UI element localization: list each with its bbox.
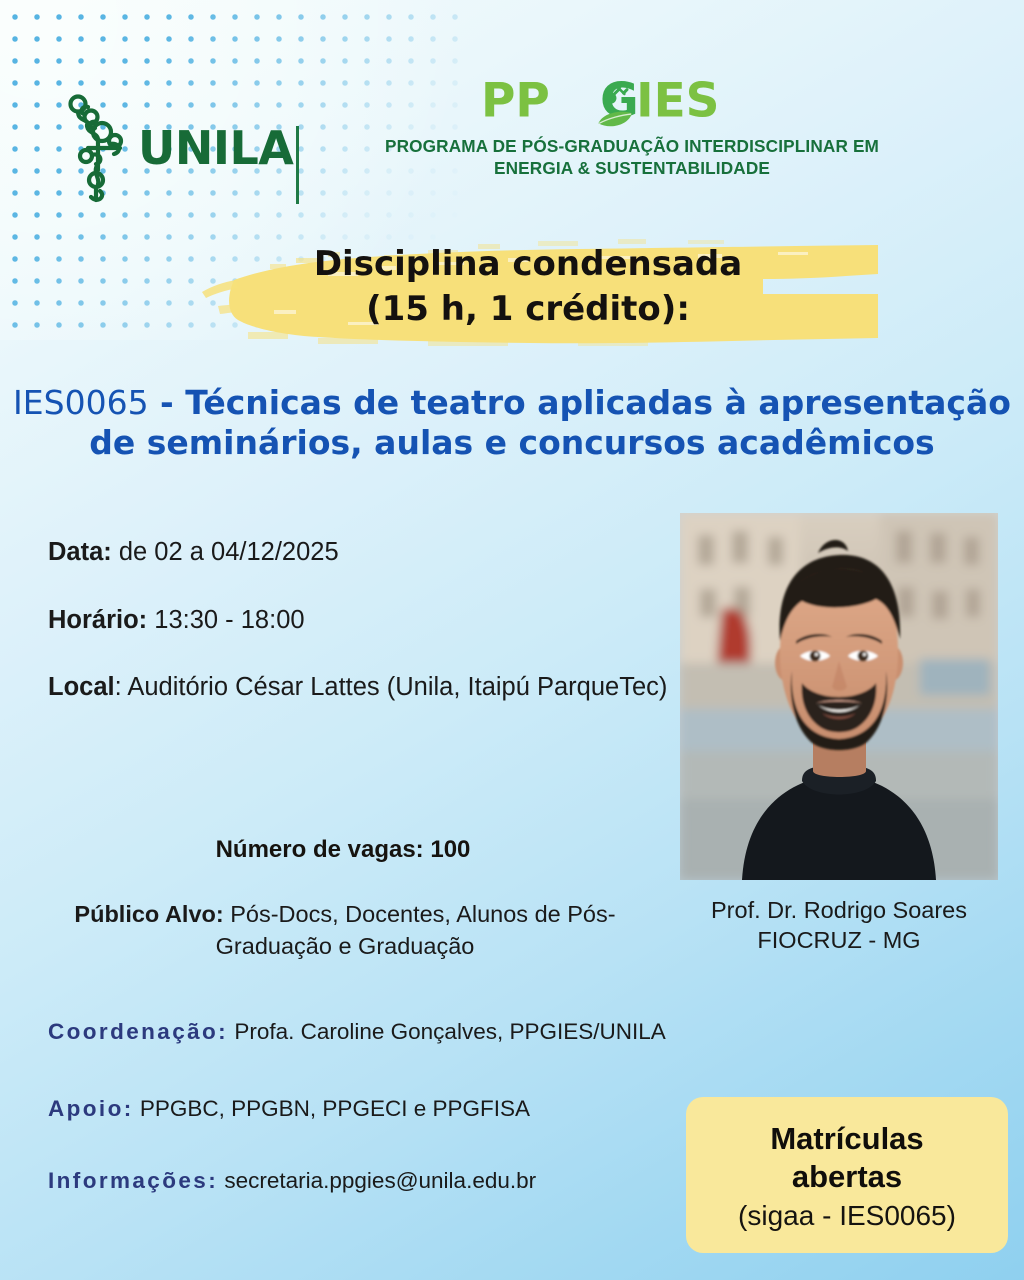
date-value: de 02 a 04/12/2025 [112, 538, 339, 566]
coordination-line: Coordenação: Profa. Caroline Gonçalves, … [48, 1019, 666, 1045]
course-code: IES0065 [13, 383, 149, 422]
banner-line-1: Disciplina condensada [178, 242, 878, 287]
detail-row-location: Local: Auditório César Lattes (Unila, It… [48, 671, 668, 705]
header-divider [296, 126, 299, 204]
speaker-name: Prof. Dr. Rodrigo Soares [660, 896, 1018, 926]
speaker-caption: Prof. Dr. Rodrigo Soares FIOCRUZ - MG [660, 896, 1018, 956]
unila-symbol-icon [58, 92, 144, 204]
course-title: IES0065 - Técnicas de teatro aplicadas à… [8, 383, 1016, 463]
slots-line: Número de vagas: 100 [48, 836, 638, 864]
date-label: Data: [48, 538, 112, 566]
support-line: Apoio: PPGBC, PPGBN, PPGECI e PPGFISA [48, 1096, 530, 1122]
slots-value: 100 [424, 836, 471, 863]
ppgies-logo-icon: PP G IES [481, 78, 783, 130]
contact-label: Informações: [48, 1168, 218, 1193]
location-label: Local [48, 673, 115, 701]
svg-text:IES: IES [636, 78, 719, 129]
enrollment-code: (sigaa - IES0065) [738, 1200, 956, 1232]
contact-email[interactable]: secretaria.ppgies@unila.edu.br [218, 1168, 536, 1193]
unila-wordmark: UNILA [138, 125, 293, 171]
detail-row-time: Horário: 13:30 - 18:00 [48, 604, 668, 638]
poster-header: UNILA PP G IES PROGRAMA DE PÓS-GRADUAÇÃO… [0, 78, 1024, 218]
ppgies-program-line-1: PROGRAMA DE PÓS-GRADUAÇÃO INTERDISCIPLIN… [312, 135, 952, 157]
contact-line: Informações: secretaria.ppgies@unila.edu… [48, 1168, 536, 1194]
support-label: Apoio: [48, 1096, 134, 1121]
detail-row-date: Data: de 02 a 04/12/2025 [48, 536, 668, 570]
banner-text: Disciplina condensada (15 h, 1 crédito): [178, 242, 878, 332]
enrollment-line-2: abertas [770, 1158, 923, 1196]
speaker-photo [680, 513, 998, 880]
time-value: 13:30 - 18:00 [147, 606, 304, 634]
svg-text:PP: PP [481, 78, 550, 129]
coordination-value: Profa. Caroline Gonçalves, PPGIES/UNILA [228, 1019, 666, 1044]
enrollment-badge[interactable]: Matrículas abertas (sigaa - IES0065) [686, 1097, 1008, 1253]
enrollment-title: Matrículas abertas [770, 1120, 923, 1196]
support-value: PPGBC, PPGBN, PPGECI e PPGFISA [134, 1096, 530, 1121]
speaker-affiliation: FIOCRUZ - MG [660, 926, 1018, 956]
ppgies-program-line-2: ENERGIA & SUSTENTABILIDADE [312, 157, 952, 179]
poster-root: { "background": { "gradient_from": "#f4f… [0, 0, 1024, 1280]
audience-line: Público Alvo: Pós-Docs, Docentes, Alunos… [40, 898, 650, 963]
audience-label: Público Alvo: [74, 901, 223, 927]
coordination-label: Coordenação: [48, 1019, 228, 1044]
event-details: Data: de 02 a 04/12/2025 Horário: 13:30 … [48, 536, 668, 739]
banner-line-2: (15 h, 1 crédito): [178, 287, 878, 332]
time-label: Horário: [48, 606, 147, 634]
banner-highlight: Disciplina condensada (15 h, 1 crédito): [178, 222, 878, 350]
ppgies-logo-block: PP G IES PROGRAMA DE PÓS-GRADUAÇÃO INTER… [312, 78, 952, 180]
slots-label: Número de vagas: [216, 836, 424, 863]
course-title-text: - Técnicas de teatro aplicadas à apresen… [89, 383, 1011, 462]
unila-logo: UNILA [58, 92, 293, 204]
speaker-portrait-image [680, 513, 998, 880]
audience-value: Pós-Docs, Docentes, Alunos de Pós-Gradua… [216, 901, 616, 959]
location-value: : Auditório César Lattes (Unila, Itaipú … [115, 673, 668, 701]
enrollment-line-1: Matrículas [770, 1120, 923, 1158]
